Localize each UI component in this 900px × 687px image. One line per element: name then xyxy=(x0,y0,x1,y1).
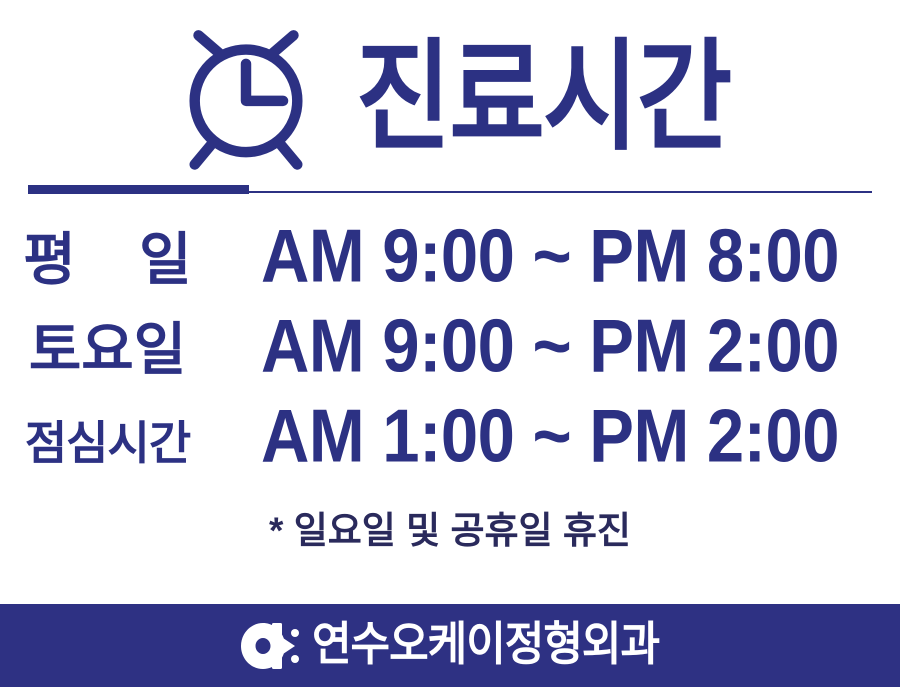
schedule-label: 점심시간 xyxy=(0,398,215,488)
schedule-label: 평 일 xyxy=(0,215,215,305)
schedule-time: AM 1:00 ~ PM 2:00 xyxy=(215,387,900,488)
schedule-label: 토요일 xyxy=(0,305,215,395)
schedule-time: AM 9:00 ~ PM 2:00 xyxy=(215,297,900,398)
schedule-list: 평 일 AM 9:00 ~ PM 8:00 토요일 AM 9:00 ~ PM 2… xyxy=(0,212,900,482)
closed-days-note: * 일요일 및 공휴일 휴진 xyxy=(0,500,900,554)
ok-logo-icon xyxy=(241,623,299,669)
header-divider xyxy=(28,185,872,194)
schedule-time: AM 9:00 ~ PM 8:00 xyxy=(215,207,900,308)
alarm-clock-icon xyxy=(170,22,322,174)
poster-header: 진료시간 xyxy=(0,18,900,178)
schedule-row-weekday: 평 일 AM 9:00 ~ PM 8:00 xyxy=(0,212,900,302)
divider-thick-accent xyxy=(28,185,249,194)
brand-name: 연수오케이정형외과 xyxy=(312,622,659,668)
schedule-row-lunch: 점심시간 AM 1:00 ~ PM 2:00 xyxy=(0,392,900,482)
page-title: 진료시간 xyxy=(356,38,731,159)
brand-footer: 연수오케이정형외과 xyxy=(0,604,900,687)
hours-poster: 진료시간 평 일 AM 9:00 ~ PM 8:00 토요일 AM 9:00 ~… xyxy=(0,0,900,687)
schedule-row-saturday: 토요일 AM 9:00 ~ PM 2:00 xyxy=(0,302,900,392)
